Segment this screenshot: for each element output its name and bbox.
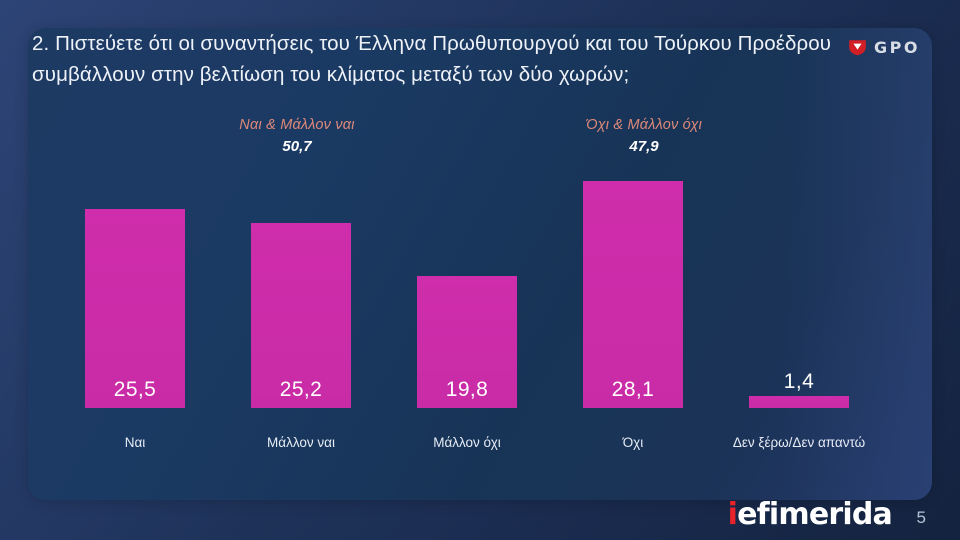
- page-title: 2. Πιστεύετε ότι οι συναντήσεις του Έλλη…: [32, 28, 872, 90]
- iefimerida-logo-text: efimerida: [737, 497, 892, 532]
- category-label-den-xero: Δεν ξέρω/Δεν απαντώ: [689, 435, 909, 450]
- gpo-logo-text: GPO: [874, 38, 920, 57]
- category-label-ochi: Όχι: [566, 435, 700, 450]
- bar-value-nai: 25,5: [68, 378, 202, 402]
- heart-shield-icon: [848, 39, 867, 56]
- slide: GPO 2. Πιστεύετε ότι οι συναντήσεις του …: [0, 0, 960, 540]
- bar-value-mallon-nai: 25,2: [234, 378, 368, 402]
- summary-group-yes: Ναι & Μάλλον ναι 50,7: [154, 117, 440, 155]
- bar-slot-3: 28,1 Όχι: [566, 160, 700, 408]
- summary-no-label: Όχι & Μάλλον όχι: [498, 117, 790, 133]
- iefimerida-logo: iefimerida: [728, 497, 892, 532]
- bar-chart: 25,5 Ναι 25,2 Μάλλον ναι 19,8 Μάλλον όχι…: [32, 150, 872, 472]
- bar-slot-4: 1,4 Δεν ξέρω/Δεν απαντώ: [732, 160, 866, 408]
- category-label-mallon-nai: Μάλλον ναι: [234, 435, 368, 450]
- category-label-mallon-ochi: Μάλλον όχι: [400, 435, 534, 450]
- summary-no-value: 47,9: [498, 138, 790, 155]
- bar-slot-2: 19,8 Μάλλον όχι: [400, 160, 534, 408]
- bar-value-den-xero: 1,4: [732, 370, 866, 394]
- page-number: 5: [917, 508, 926, 528]
- bar-value-mallon-ochi: 19,8: [400, 378, 534, 402]
- bar-den-xero: [749, 396, 849, 408]
- category-label-nai: Ναι: [68, 435, 202, 450]
- summary-yes-label: Ναι & Μάλλον ναι: [154, 117, 440, 133]
- summary-group-no: Όχι & Μάλλον όχι 47,9: [498, 117, 790, 155]
- bar-slot-0: 25,5 Ναι: [68, 160, 202, 408]
- summary-yes-value: 50,7: [154, 138, 440, 155]
- bar-value-ochi: 28,1: [566, 378, 700, 402]
- iefimerida-logo-i: i: [728, 497, 737, 532]
- bar-slot-1: 25,2 Μάλλον ναι: [234, 160, 368, 408]
- gpo-logo: GPO: [848, 38, 920, 57]
- bar-ochi: [583, 181, 683, 408]
